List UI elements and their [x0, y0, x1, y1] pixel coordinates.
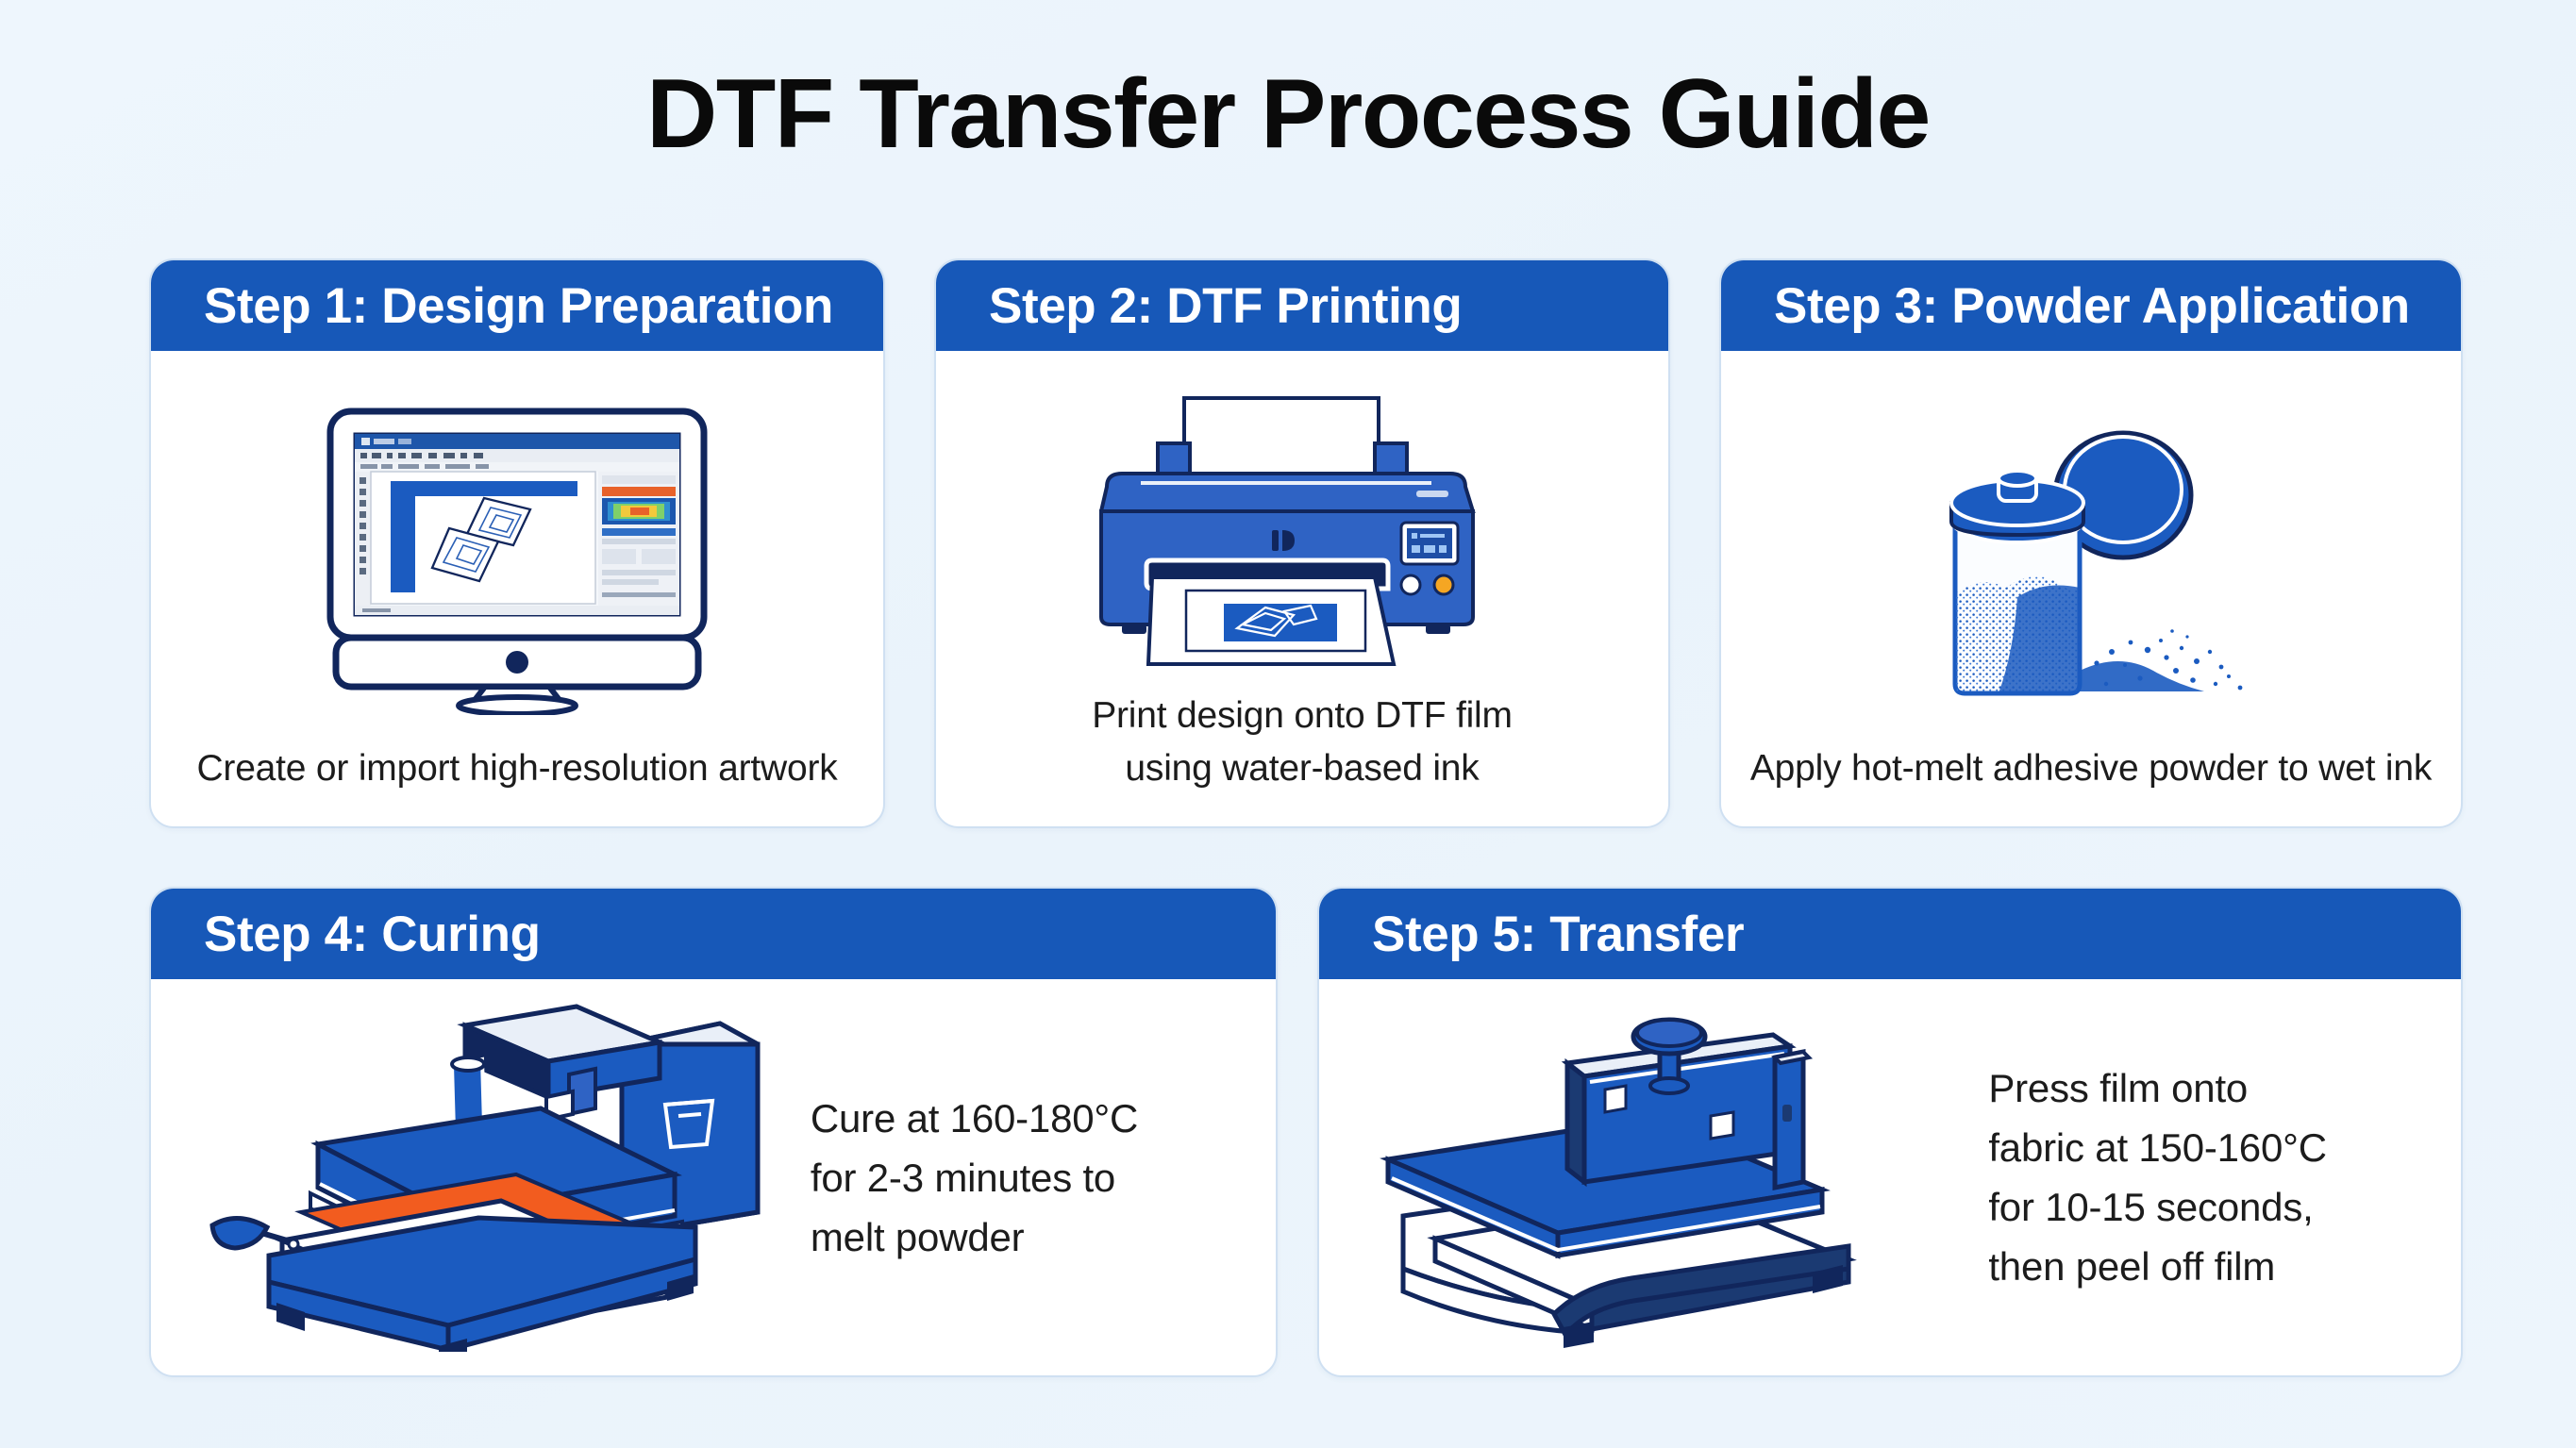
- step-body-4: Cure at 160-180°C for 2-3 minutes to mel…: [151, 979, 1276, 1375]
- step-header-label-2: Step 2: DTF Printing: [989, 277, 1462, 335]
- step-card-2: Step 2: DTF Printing: [934, 258, 1670, 828]
- caption-line: Create or import high-resolution artwork: [196, 742, 837, 796]
- caption-line: then peel off film: [1988, 1237, 2434, 1296]
- illustration-transfer-heat-press: [1346, 992, 1977, 1362]
- step-card-5: Step 5: Transfer: [1317, 887, 2463, 1377]
- step-card-3: Step 3: Powder Application: [1719, 258, 2463, 828]
- illustration-curing-heat-press: [177, 992, 799, 1362]
- step-card-1: Step 1: Design Preparation: [149, 258, 885, 828]
- caption-line: melt powder: [811, 1207, 1249, 1267]
- illustration-powder-jar: [1740, 375, 2442, 742]
- step-caption-2: Print design onto DTF film using water-b…: [1082, 690, 1522, 802]
- caption-line: Print design onto DTF film: [1092, 690, 1513, 743]
- step-header-4: Step 4: Curing: [151, 889, 1276, 979]
- step-header-label-4: Step 4: Curing: [204, 906, 541, 963]
- step-caption-3: Apply hot-melt adhesive powder to wet in…: [1741, 742, 2441, 802]
- step-header-label-1: Step 1: Design Preparation: [204, 277, 833, 335]
- step-card-4: Step 4: Curing: [149, 887, 1278, 1377]
- step-header-5: Step 5: Transfer: [1319, 889, 2461, 979]
- page-title: DTF Transfer Process Guide: [0, 58, 2576, 172]
- caption-line: for 2-3 minutes to: [811, 1148, 1249, 1207]
- step-caption-1: Create or import high-resolution artwork: [187, 742, 846, 802]
- step-body-2: Print design onto DTF film using water-b…: [936, 351, 1668, 826]
- caption-line: using water-based ink: [1092, 742, 1513, 796]
- caption-line: Apply hot-melt adhesive powder to wet in…: [1750, 742, 2432, 796]
- illustration-inkjet-printer: [955, 375, 1649, 690]
- caption-line: Cure at 160-180°C: [811, 1089, 1249, 1148]
- illustration-desktop-monitor: [170, 375, 864, 742]
- infographic-page: DTF Transfer Process Guide Step 1: Desig…: [0, 0, 2576, 1448]
- step-body-5: Press film onto fabric at 150-160°C for …: [1319, 979, 2461, 1375]
- step-header-label-3: Step 3: Powder Application: [1774, 277, 2410, 335]
- caption-line: for 10-15 seconds,: [1988, 1177, 2434, 1237]
- caption-line: fabric at 150-160°C: [1988, 1118, 2434, 1177]
- step-body-1: Create or import high-resolution artwork: [151, 351, 883, 826]
- step-header-2: Step 2: DTF Printing: [936, 260, 1668, 351]
- step-caption-4: Cure at 160-180°C for 2-3 minutes to mel…: [799, 1089, 1249, 1267]
- step-body-3: Apply hot-melt adhesive powder to wet in…: [1721, 351, 2461, 826]
- step-header-1: Step 1: Design Preparation: [151, 260, 883, 351]
- step-header-label-5: Step 5: Transfer: [1372, 906, 1744, 963]
- step-header-3: Step 3: Powder Application: [1721, 260, 2461, 351]
- step-caption-5: Press film onto fabric at 150-160°C for …: [1977, 1058, 2434, 1296]
- caption-line: Press film onto: [1988, 1058, 2434, 1118]
